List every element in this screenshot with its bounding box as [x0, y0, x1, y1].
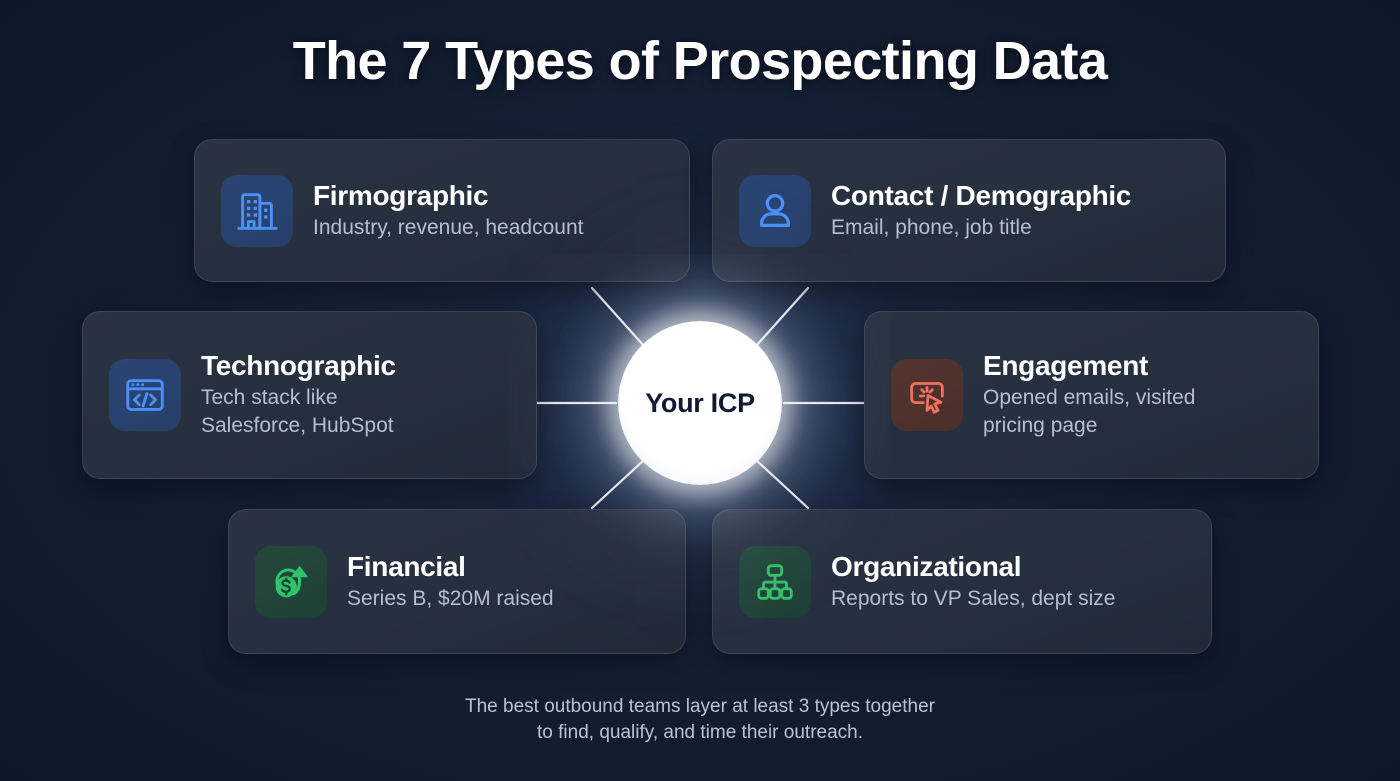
card-desc-engagement: Opened emails, visited pricing page [983, 384, 1195, 439]
card-text-technographic: Technographic Tech stack like Salesforce… [201, 350, 396, 440]
icon-tile-contact-demographic [739, 175, 811, 247]
person-icon [752, 188, 798, 234]
card-firmographic[interactable]: Firmographic Industry, revenue, headcoun… [194, 139, 690, 282]
card-financial[interactable]: Financial Series B, $20M raised [228, 509, 686, 654]
hub-label: Your ICP [645, 388, 755, 419]
card-desc-technographic: Tech stack like Salesforce, HubSpot [201, 384, 396, 439]
card-contact-demographic[interactable]: Contact / Demographic Email, phone, job … [712, 139, 1226, 282]
page-title: The 7 Types of Prospecting Data [0, 30, 1400, 92]
card-desc-organizational: Reports to VP Sales, dept size [831, 585, 1115, 613]
card-desc-firmographic: Industry, revenue, headcount [313, 214, 583, 242]
connector-line-contact [756, 288, 808, 346]
card-title-organizational: Organizational [831, 551, 1115, 583]
icon-tile-technographic [109, 359, 181, 431]
click-cursor-icon [904, 372, 950, 418]
org-chart-icon [752, 559, 798, 605]
footer-note: The best outbound teams layer at least 3… [0, 694, 1400, 746]
office-building-icon [234, 188, 280, 234]
connector-line-organizational [756, 460, 808, 508]
card-title-technographic: Technographic [201, 350, 396, 382]
dollar-growth-icon [268, 559, 314, 605]
card-desc-financial: Series B, $20M raised [347, 585, 554, 613]
icon-tile-organizational [739, 546, 811, 618]
icon-tile-engagement [891, 359, 963, 431]
card-organizational[interactable]: Organizational Reports to VP Sales, dept… [712, 509, 1212, 654]
card-text-firmographic: Firmographic Industry, revenue, headcoun… [313, 180, 583, 242]
infographic-stage: The 7 Types of Prospecting Data Your ICP [0, 0, 1400, 781]
card-text-financial: Financial Series B, $20M raised [347, 551, 554, 613]
card-desc-contact-demographic: Email, phone, job title [831, 214, 1131, 242]
card-title-financial: Financial [347, 551, 554, 583]
card-engagement[interactable]: Engagement Opened emails, visited pricin… [864, 311, 1319, 479]
card-text-contact-demographic: Contact / Demographic Email, phone, job … [831, 180, 1131, 242]
card-title-engagement: Engagement [983, 350, 1195, 382]
code-window-icon [122, 372, 168, 418]
card-technographic[interactable]: Technographic Tech stack like Salesforce… [82, 311, 537, 479]
icon-tile-firmographic [221, 175, 293, 247]
hub-your-icp: Your ICP [618, 321, 782, 485]
connector-line-financial [592, 460, 644, 508]
card-title-firmographic: Firmographic [313, 180, 583, 212]
card-title-contact-demographic: Contact / Demographic [831, 180, 1131, 212]
card-text-organizational: Organizational Reports to VP Sales, dept… [831, 551, 1115, 613]
icon-tile-financial [255, 546, 327, 618]
card-text-engagement: Engagement Opened emails, visited pricin… [983, 350, 1195, 440]
connector-line-firmographic [592, 288, 644, 346]
